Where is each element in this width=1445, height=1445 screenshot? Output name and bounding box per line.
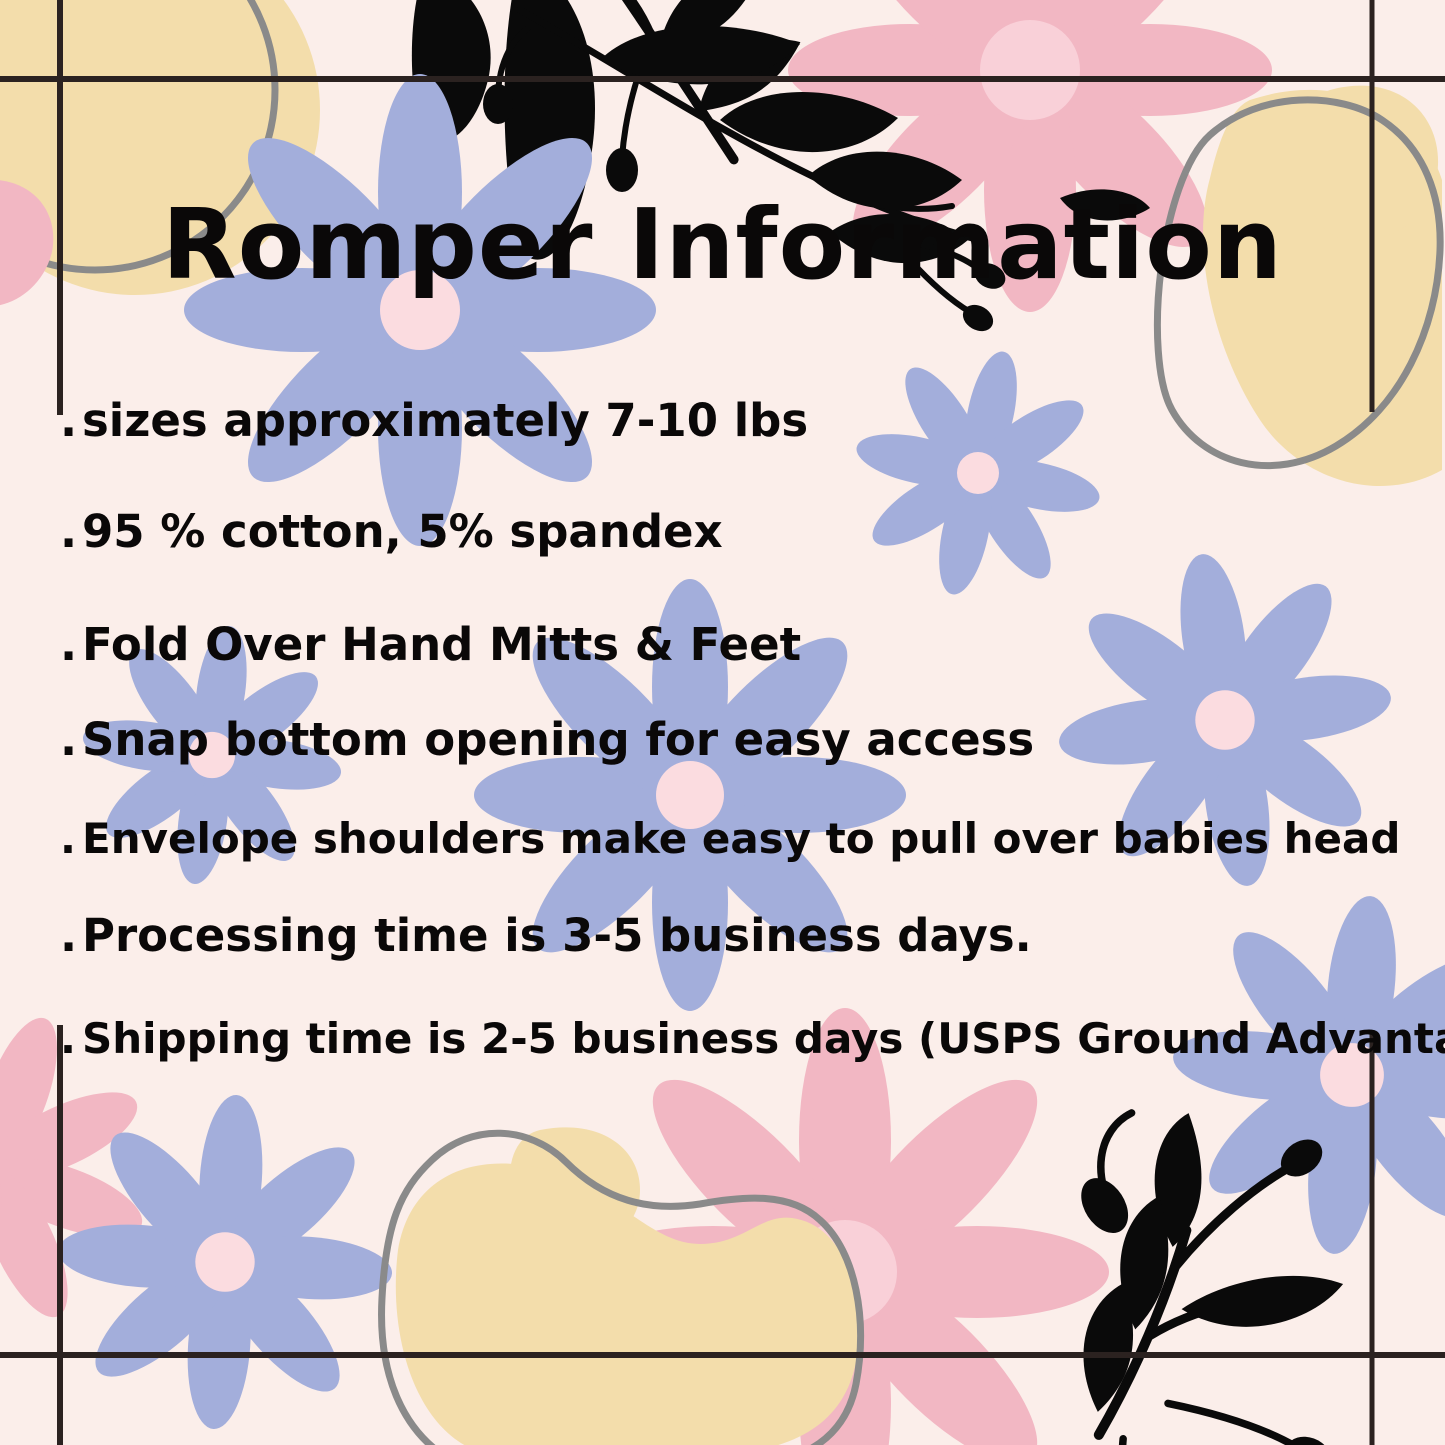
poster-canvas: Romper Information . sizes approximately…: [0, 0, 1445, 1445]
list-item: . Snap bottom opening for easy access: [60, 717, 1420, 762]
list-item-label: Processing time is 3-5 business days.: [82, 913, 1032, 958]
list-item-label: Fold Over Hand Mitts & Feet: [82, 622, 801, 667]
list-item: . Fold Over Hand Mitts & Feet: [60, 622, 1420, 667]
romper-info-list: . sizes approximately 7-10 lbs . 95 % co…: [60, 398, 1420, 1060]
list-item-label: 95 % cotton, 5% spandex: [82, 509, 723, 554]
list-item: . Processing time is 3-5 business days.: [60, 913, 1420, 958]
bullet-marker-icon: .: [60, 509, 82, 554]
bullet-marker-icon: .: [60, 622, 82, 667]
list-item-label: sizes approximately 7-10 lbs: [82, 398, 808, 443]
list-item: . sizes approximately 7-10 lbs: [60, 398, 1420, 443]
bullet-marker-icon: .: [60, 1018, 82, 1060]
list-item-label: Shipping time is 2-5 business days (USPS…: [82, 1018, 1445, 1060]
list-item: . Envelope shoulders make easy to pull o…: [60, 818, 1420, 860]
list-item-label: Envelope shoulders make easy to pull ove…: [82, 818, 1400, 860]
poster-text-content: Romper Information . sizes approximately…: [0, 0, 1445, 1445]
bullet-marker-icon: .: [60, 818, 82, 860]
bullet-marker-icon: .: [60, 717, 82, 762]
list-item: . 95 % cotton, 5% spandex: [60, 509, 1420, 554]
page-title: Romper Information: [0, 196, 1445, 293]
bullet-marker-icon: .: [60, 398, 82, 443]
list-item: . Shipping time is 2-5 business days (US…: [60, 1018, 1420, 1060]
list-item-label: Snap bottom opening for easy access: [82, 717, 1034, 762]
bullet-marker-icon: .: [60, 913, 82, 958]
